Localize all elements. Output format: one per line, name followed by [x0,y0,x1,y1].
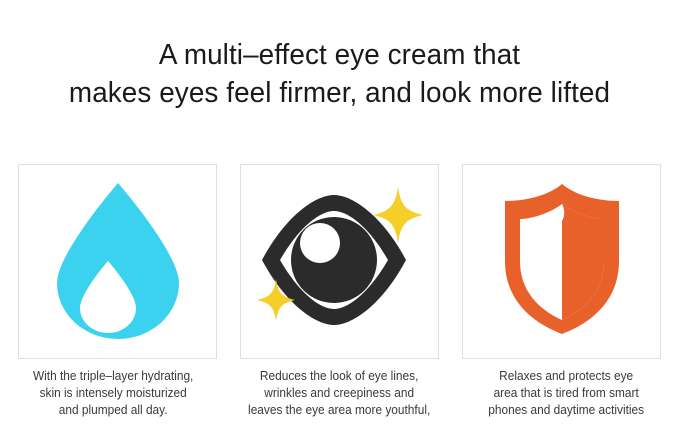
caption-wrinkles: Reduces the look of eye lines, wrinkles … [232,368,447,434]
shield-icon [499,181,625,342]
eye-sparkle-icon [254,179,426,344]
caption-line: Relaxes and protects eye [458,368,673,385]
feature-captions: With the triple–layer hydrating, skin is… [0,368,679,434]
feature-panels [18,164,661,359]
caption-hydration: With the triple–layer hydrating, skin is… [6,368,221,434]
feature-panel-hydration [18,164,217,359]
caption-line: Reduces the look of eye lines, [232,368,447,385]
feature-panel-protection [462,164,661,359]
page-title: A multi–effect eye cream that makes eyes… [14,36,666,112]
caption-line: and plumped all day. [6,402,221,419]
caption-line: wrinkles and creepiness and [232,385,447,402]
feature-panel-wrinkles [240,164,439,359]
caption-line: skin is intensely moisturized [6,385,221,402]
caption-line: leaves the eye area more youthful, [232,402,447,419]
headline-line-1: A multi–effect eye cream that [14,36,666,74]
water-drop-icon [53,179,183,344]
caption-line: With the triple–layer hydrating, [6,368,221,385]
caption-line: phones and daytime activities [458,402,673,419]
caption-protection: Relaxes and protects eye area that is ti… [458,368,673,434]
headline-line-2: makes eyes feel firmer, and look more li… [14,74,666,112]
caption-line: area that is tired from smart [458,385,673,402]
